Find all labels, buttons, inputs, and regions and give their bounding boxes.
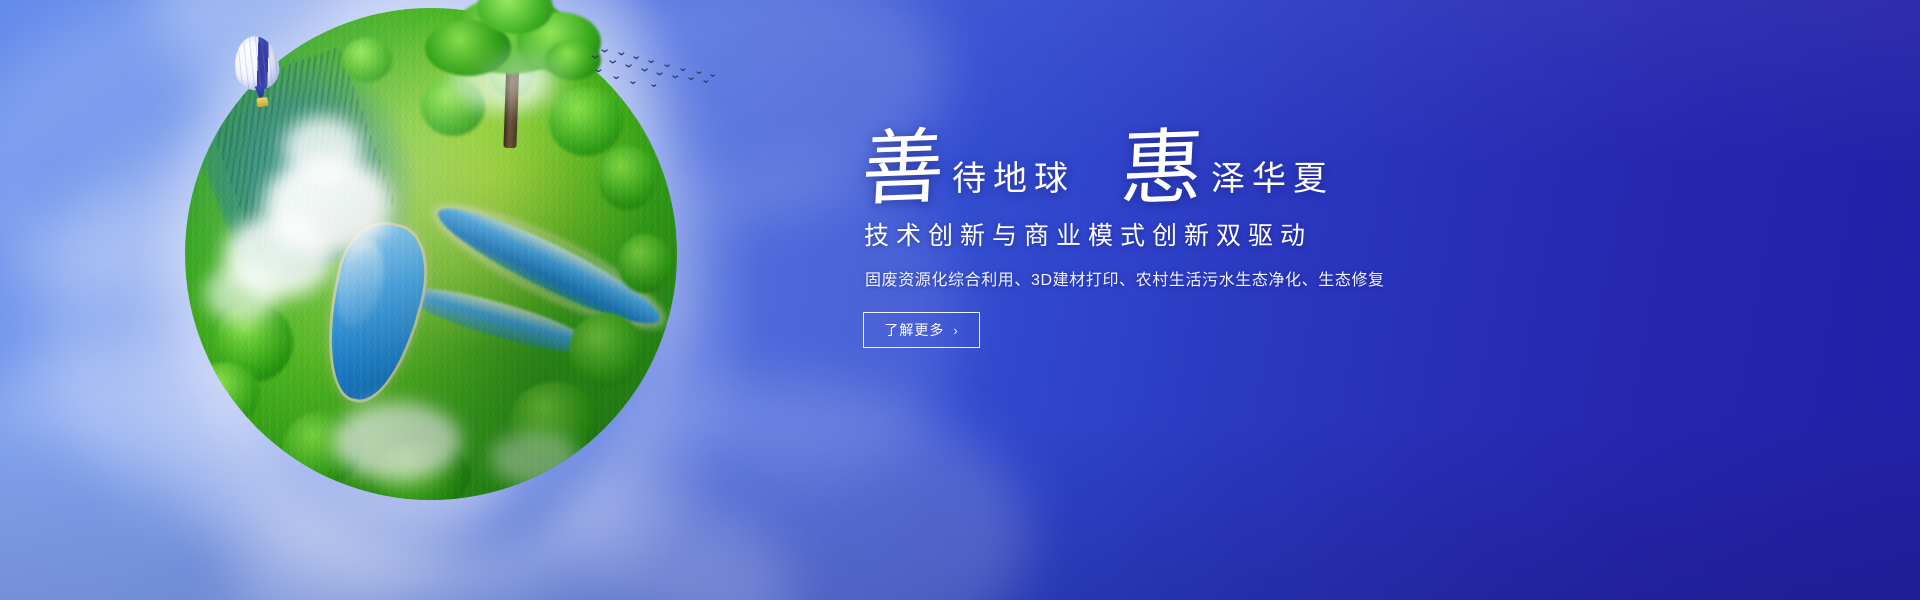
page-title: 善 待地球 惠 泽华夏: [862, 120, 1562, 206]
chevron-right-icon: ›: [953, 324, 958, 337]
headline-small-chars-1: 待地球: [948, 163, 1075, 206]
headline-small-chars-2: 泽华夏: [1207, 163, 1334, 206]
learn-more-button[interactable]: 了解更多 ›: [863, 312, 980, 348]
description-text: 固废资源化综合利用、3D建材打印、农村生活污水生态净化、生态修复: [865, 266, 1562, 290]
learn-more-label: 了解更多: [884, 320, 944, 340]
headline-calligraphy-char-2: 惠: [1119, 129, 1209, 207]
tree-mist: [463, 38, 583, 124]
hero-content: 善 待地球 惠 泽华夏 技术创新与商业模式创新双驱动 固废资源化综合利用、3D建…: [862, 120, 1562, 348]
tall-tree-icon: [421, 0, 601, 161]
balloon-ribs: [231, 33, 282, 93]
tagline: 技术创新与商业模式创新双驱动: [864, 216, 1562, 252]
bird-flock-icon: [588, 44, 718, 92]
balloon-basket: [256, 97, 268, 107]
headline-calligraphy-char-1: 善: [860, 129, 950, 207]
hero-banner: 善 待地球 惠 泽华夏 技术创新与商业模式创新双驱动 固废资源化综合利用、3D建…: [0, 0, 1920, 600]
